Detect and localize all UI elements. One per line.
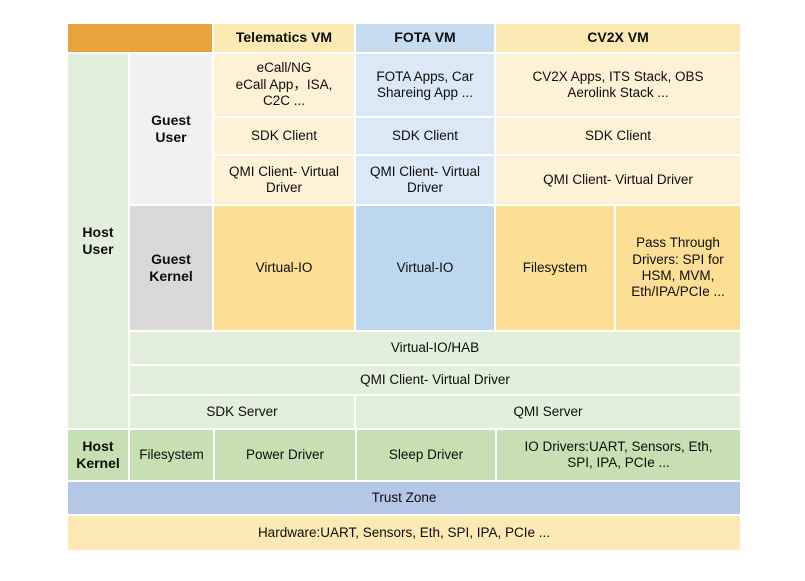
side-label-guest-kernel: Guest Kernel <box>130 206 212 330</box>
hardware-band: Hardware:UART, Sensors, Eth, SPI, IPA, P… <box>68 516 740 550</box>
guest-user-app-fota: FOTA Apps, Car Shareing App ... <box>356 54 494 116</box>
guest-kernel-pass-through-drivers-cv2x: Pass Through Drivers: SPI for HSM, MVM, … <box>616 206 740 330</box>
guest-user-qmi-client-cv2x: QMI Client- Virtual Driver <box>496 156 740 204</box>
host-user-qmi-client-virtual-driver: QMI Client- Virtual Driver <box>130 366 740 394</box>
header-cv2x-vm: CV2X VM <box>496 24 740 52</box>
host-kernel-io-drivers: IO Drivers:UART, Sensors, Eth, SPI, IPA,… <box>497 430 740 480</box>
host-user-qmi-server: QMI Server <box>356 396 740 428</box>
guest-user-sdk-client-telematics: SDK Client <box>214 118 354 154</box>
host-kernel-filesystem: Filesystem <box>130 430 213 480</box>
guest-kernel-filesystem-cv2x: Filesystem <box>496 206 614 330</box>
header-telematics-vm: Telematics VM <box>214 24 354 52</box>
side-label-guest-user: Guest User <box>130 54 212 204</box>
side-label-host-kernel: Host Kernel <box>68 430 128 480</box>
guest-user-app-telematics: eCall/NG eCall App，ISA, C2C ... <box>214 54 354 116</box>
side-label-host-user: Host User <box>68 54 128 428</box>
guest-kernel-virtual-io-telematics: Virtual-IO <box>214 206 354 330</box>
trust-zone-band: Trust Zone <box>68 482 740 514</box>
host-kernel-sleep-driver: Sleep Driver <box>357 430 495 480</box>
architecture-diagram: Telematics VM FOTA VM CV2X VM Host User … <box>0 0 805 581</box>
guest-user-sdk-client-fota: SDK Client <box>356 118 494 154</box>
guest-user-qmi-client-telematics: QMI Client- Virtual Driver <box>214 156 354 204</box>
guest-user-qmi-client-fota: QMI Client- Virtual Driver <box>356 156 494 204</box>
header-fota-vm: FOTA VM <box>356 24 494 52</box>
guest-user-sdk-client-cv2x: SDK Client <box>496 118 740 154</box>
host-kernel-power-driver: Power Driver <box>215 430 355 480</box>
host-user-virtual-io-hab: Virtual-IO/HAB <box>130 332 740 364</box>
guest-user-app-cv2x: CV2X Apps, ITS Stack, OBS Aerolink Stack… <box>496 54 740 116</box>
header-corner-cell <box>68 24 212 52</box>
guest-kernel-virtual-io-fota: Virtual-IO <box>356 206 494 330</box>
host-user-sdk-server: SDK Server <box>130 396 354 428</box>
